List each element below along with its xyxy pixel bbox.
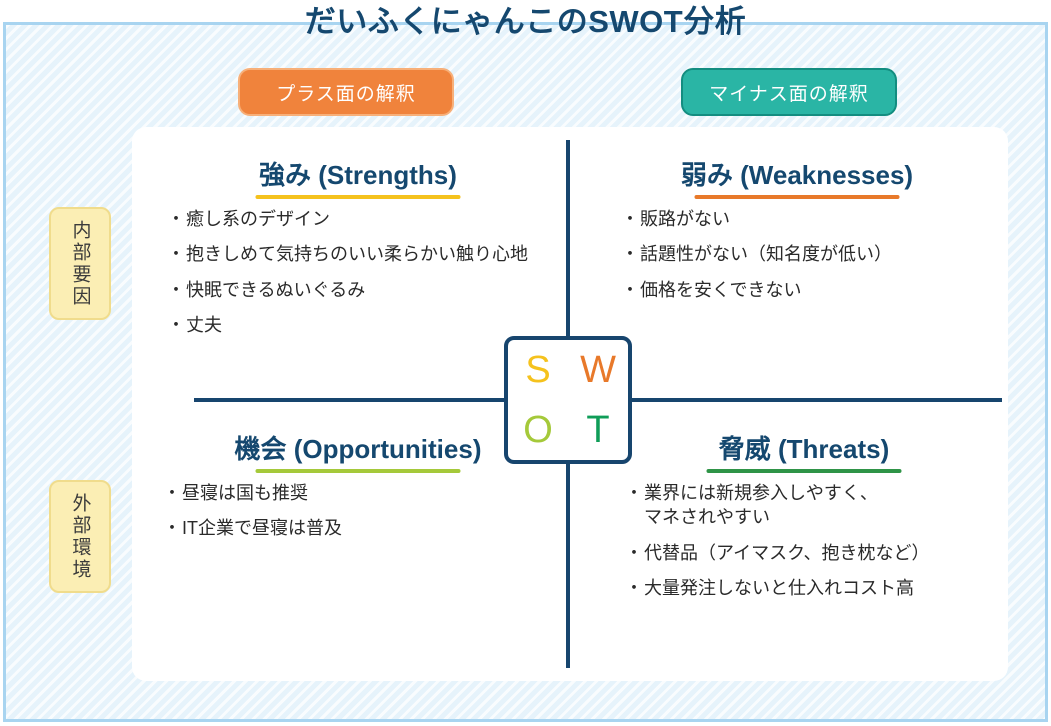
- list-item: 昼寝は国も推奨: [166, 481, 558, 505]
- quadrant-weaknesses: 弱み (Weaknesses) 販路がない 話題性がない（知名度が低い） 価格を…: [602, 155, 992, 313]
- threats-underline-accent: [707, 469, 902, 473]
- side-label-internal-factors: 内部要因: [49, 207, 111, 320]
- quadrant-strengths-heading: 強み (Strengths): [158, 155, 558, 201]
- quadrant-threats: 脅威 (Threats) 業界には新規参入しやすく、 マネされやすい 代替品（ア…: [614, 429, 994, 611]
- page-title: だいふくにゃんこのSWOT分析: [0, 0, 1051, 41]
- quadrant-weaknesses-list: 販路がない 話題性がない（知名度が低い） 価格を安くできない: [602, 207, 992, 302]
- quadrant-opportunities-heading-text: 機会 (Opportunities): [235, 434, 482, 464]
- quadrant-opportunities: 機会 (Opportunities) 昼寝は国も推奨 IT企業で昼寝は普及: [158, 429, 558, 552]
- swot-letter-t: T: [568, 400, 628, 460]
- badge-positive-label: プラス面の解釈: [276, 79, 416, 106]
- opportunities-underline-accent: [256, 469, 461, 473]
- list-item: 話題性がない（知名度が低い）: [624, 242, 992, 266]
- side-label-external-text: 外部環境: [71, 493, 90, 581]
- strengths-underline-accent: [256, 195, 461, 199]
- list-item: 販路がない: [624, 207, 992, 231]
- side-label-external-environment: 外部環境: [49, 480, 111, 593]
- quadrant-weaknesses-heading-text: 弱み (Weaknesses): [681, 160, 913, 190]
- side-label-internal-text: 内部要因: [71, 220, 90, 308]
- list-item: 抱きしめて気持ちのいい柔らかい触り心地: [170, 242, 558, 266]
- swot-letter-s: S: [508, 340, 568, 400]
- list-item: 代替品（アイマスク、抱き枕など）: [628, 541, 994, 565]
- swot-acronym-box: S W O T: [504, 336, 632, 464]
- quadrant-strengths-heading-text: 強み (Strengths): [259, 160, 457, 190]
- swot-letter-o: O: [508, 400, 568, 460]
- quadrant-opportunities-list: 昼寝は国も推奨 IT企業で昼寝は普及: [158, 481, 558, 541]
- list-item: 快眠できるぬいぐるみ: [170, 278, 558, 302]
- list-item: IT企業で昼寝は普及: [166, 516, 558, 540]
- list-item: 癒し系のデザイン: [170, 207, 558, 231]
- weaknesses-underline-accent: [695, 195, 900, 199]
- quadrant-strengths: 強み (Strengths) 癒し系のデザイン 抱きしめて気持ちのいい柔らかい触…: [158, 155, 558, 348]
- list-item: 丈夫: [170, 313, 558, 337]
- swot-letter-w: W: [568, 340, 628, 400]
- quadrant-opportunities-heading: 機会 (Opportunities): [158, 429, 558, 475]
- badge-negative-interpretation: マイナス面の解釈: [681, 68, 897, 116]
- list-item: 業界には新規参入しやすく、 マネされやすい: [628, 481, 994, 530]
- list-item: 価格を安くできない: [624, 278, 992, 302]
- quadrant-threats-heading-text: 脅威 (Threats): [719, 434, 889, 464]
- quadrant-threats-list: 業界には新規参入しやすく、 マネされやすい 代替品（アイマスク、抱き枕など） 大…: [614, 481, 994, 600]
- quadrant-weaknesses-heading: 弱み (Weaknesses): [602, 155, 992, 201]
- quadrant-threats-heading: 脅威 (Threats): [614, 429, 994, 475]
- list-item: 大量発注しないと仕入れコスト高: [628, 576, 994, 600]
- badge-negative-label: マイナス面の解釈: [709, 79, 869, 106]
- badge-positive-interpretation: プラス面の解釈: [238, 68, 454, 116]
- quadrant-strengths-list: 癒し系のデザイン 抱きしめて気持ちのいい柔らかい触り心地 快眠できるぬいぐるみ …: [158, 207, 558, 337]
